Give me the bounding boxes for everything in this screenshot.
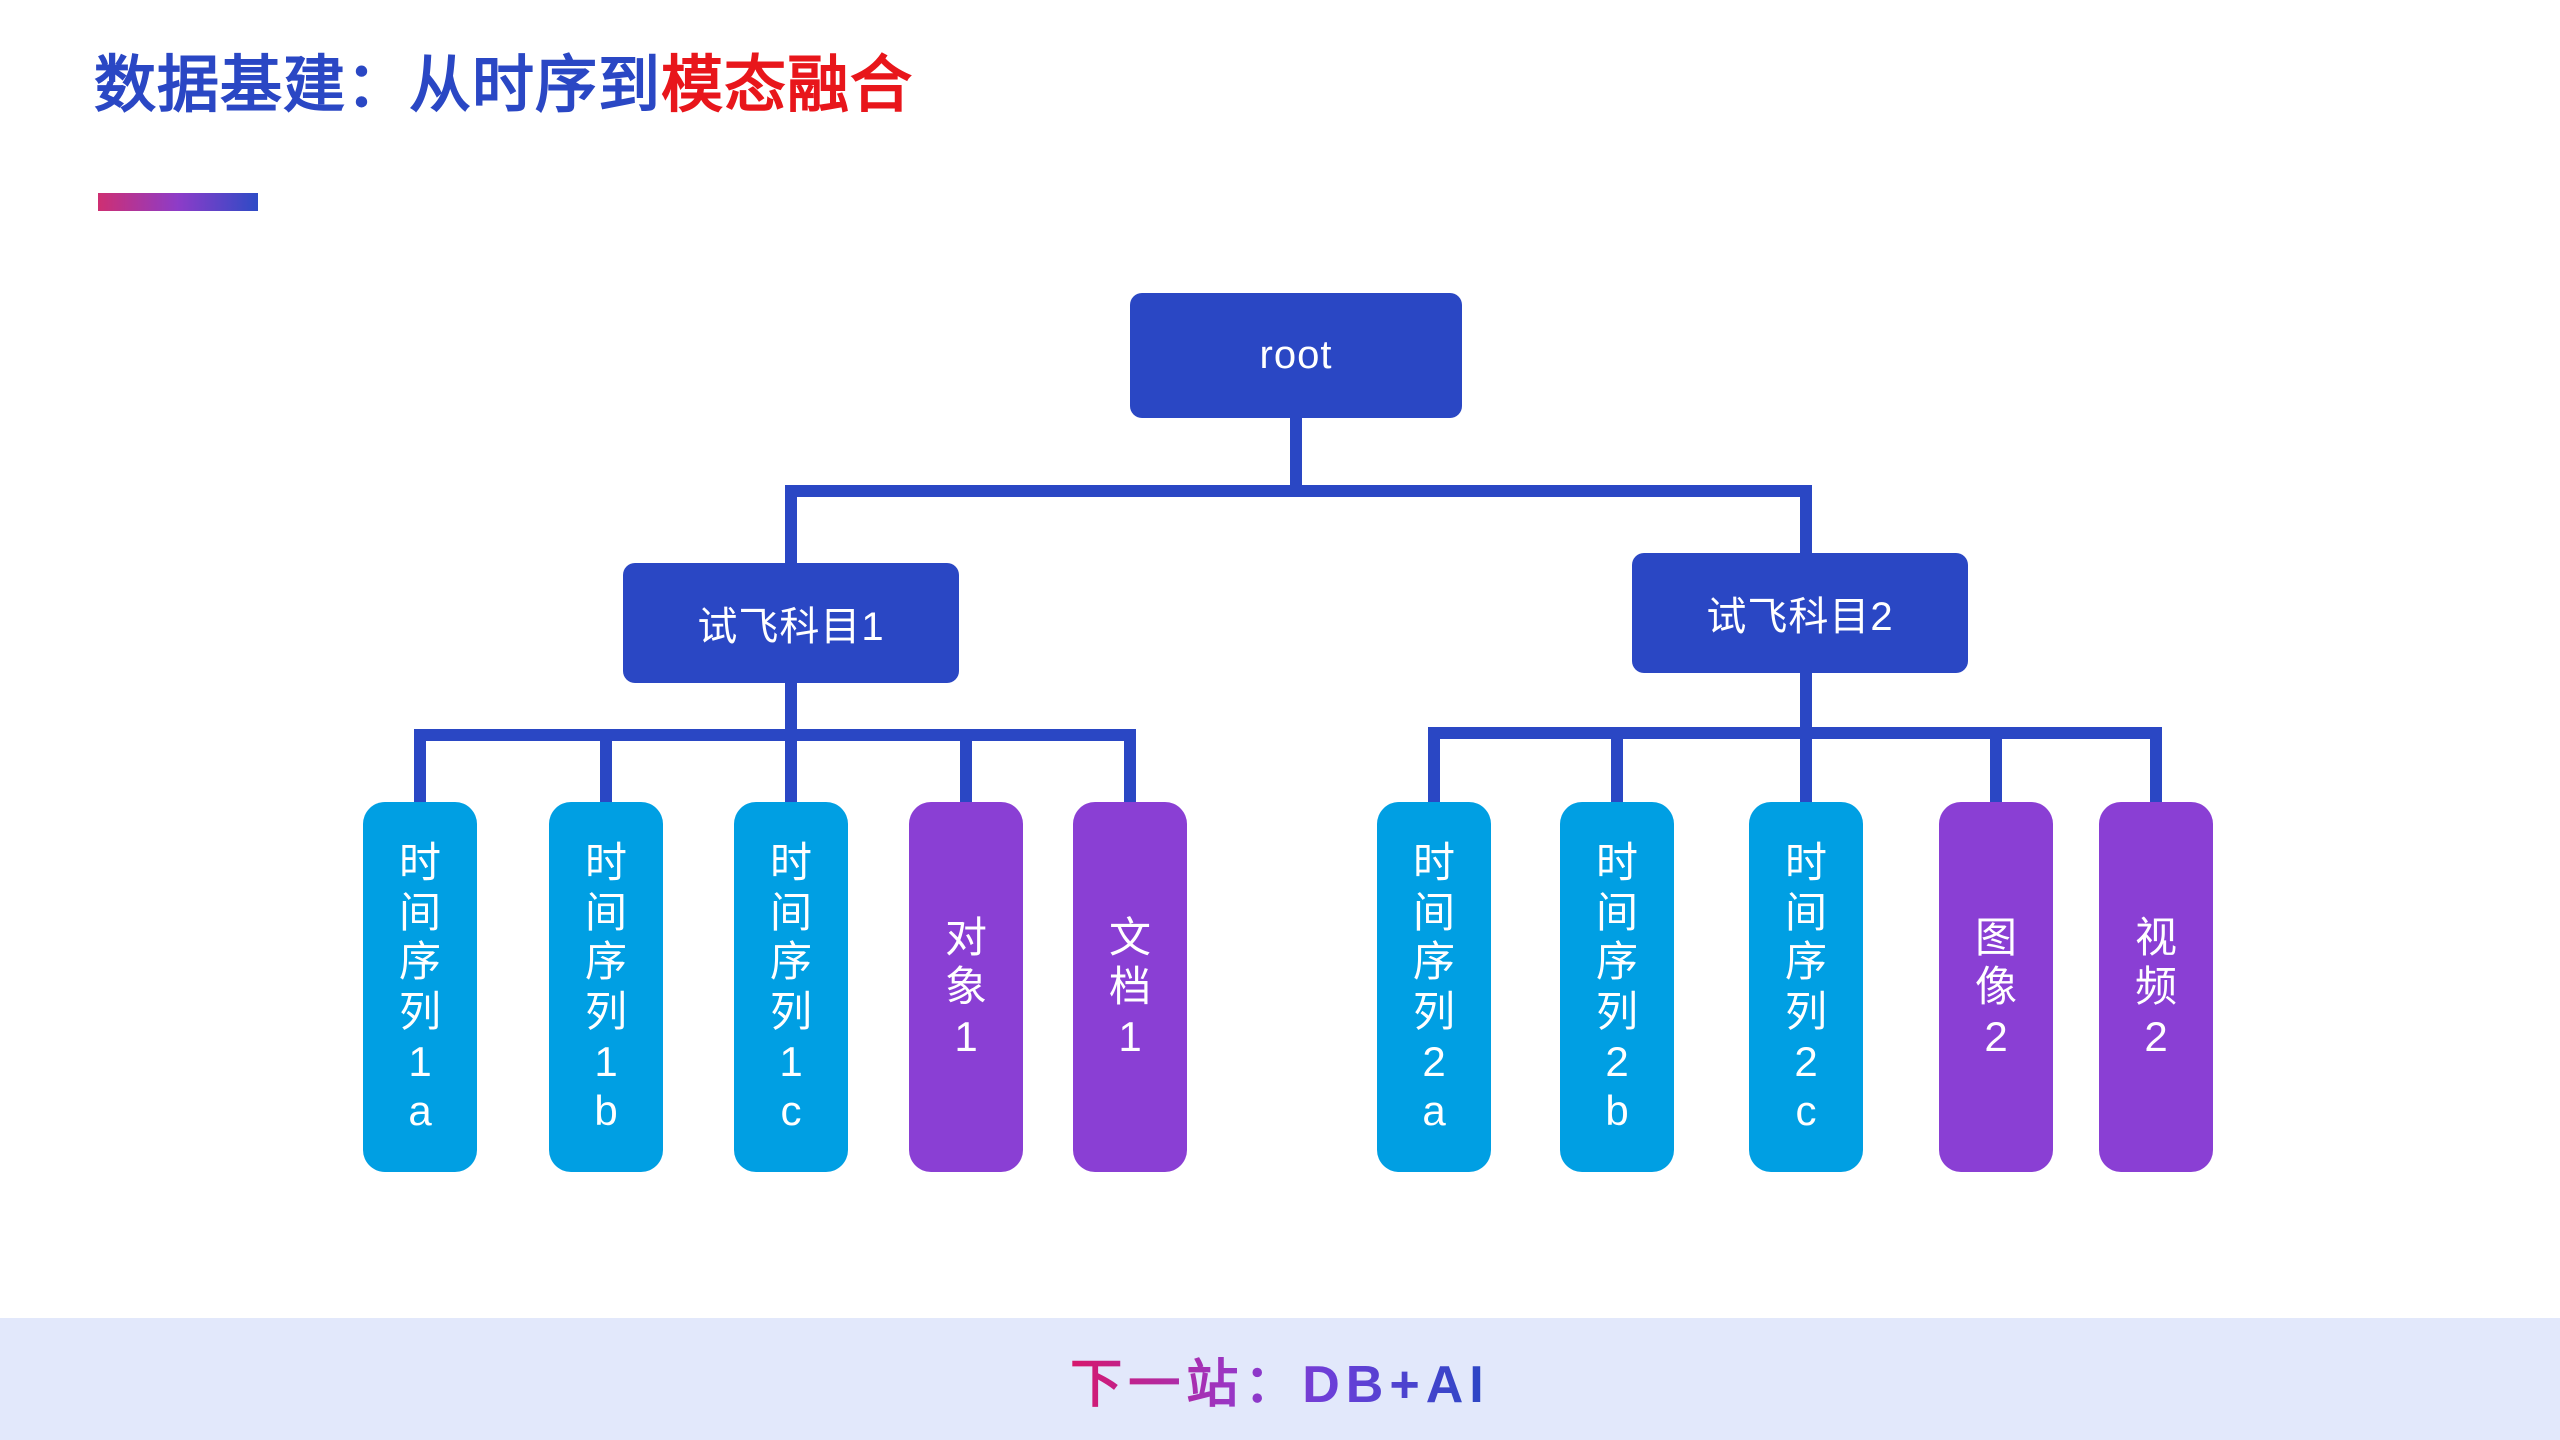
edge-branch-2-drop-3 bbox=[1800, 727, 1812, 805]
edge-branch-2-drop-2 bbox=[1611, 727, 1623, 805]
tree-leaf-label: 时间序列1c bbox=[769, 838, 813, 1135]
tree-node-branch-2-label: 试飞科目2 bbox=[1706, 584, 1893, 642]
edge-branch-1-drop-1 bbox=[414, 729, 426, 805]
tree-leaf-video-2[interactable]: 视频2 bbox=[2099, 802, 2213, 1172]
edge-branch-1-drop-4 bbox=[960, 729, 972, 805]
edge-root-bus bbox=[785, 485, 1812, 497]
tree-diagram: root 试飞科目1 试飞科目2 时间序列1a 时间序列1b 时间序列1c 对象… bbox=[0, 0, 2560, 1320]
tree-leaf-timeseries-2c[interactable]: 时间序列2c bbox=[1749, 802, 1863, 1172]
tree-leaf-label: 对象1 bbox=[944, 913, 988, 1062]
tree-node-branch-2[interactable]: 试飞科目2 bbox=[1632, 553, 1968, 673]
edge-branch-2-drop-5 bbox=[2150, 727, 2162, 805]
tree-leaf-label: 时间序列2a bbox=[1412, 838, 1456, 1135]
tree-leaf-label: 时间序列1a bbox=[398, 838, 442, 1135]
tree-leaf-timeseries-1a[interactable]: 时间序列1a bbox=[363, 802, 477, 1172]
tree-leaf-label: 图像2 bbox=[1974, 913, 2018, 1062]
edge-branch-1-drop-3 bbox=[785, 729, 797, 805]
edge-branch-2-drop-4 bbox=[1990, 727, 2002, 805]
tree-leaf-label: 视频2 bbox=[2134, 913, 2178, 1062]
tree-node-root-label: root bbox=[1260, 333, 1333, 378]
tree-leaf-timeseries-1c[interactable]: 时间序列1c bbox=[734, 802, 848, 1172]
edge-root-stem bbox=[1290, 418, 1302, 491]
edge-branch-1-drop-5 bbox=[1124, 729, 1136, 805]
tree-leaf-document-1[interactable]: 文档1 bbox=[1073, 802, 1187, 1172]
footer-band: 下一站：DB+AI bbox=[0, 1318, 2560, 1440]
tree-leaf-object-1[interactable]: 对象1 bbox=[909, 802, 1023, 1172]
tree-node-root[interactable]: root bbox=[1130, 293, 1462, 418]
edge-branch-2-bus bbox=[1428, 727, 2162, 739]
edge-branch-1-drop-2 bbox=[600, 729, 612, 805]
footer-tagline: 下一站：DB+AI bbox=[1070, 1342, 1489, 1417]
edge-root-to-branch-1 bbox=[785, 485, 797, 565]
tree-leaf-timeseries-2b[interactable]: 时间序列2b bbox=[1560, 802, 1674, 1172]
edge-root-to-branch-2 bbox=[1800, 485, 1812, 558]
tree-node-branch-1[interactable]: 试飞科目1 bbox=[623, 563, 959, 683]
edge-branch-2-stem bbox=[1800, 673, 1812, 731]
tree-node-branch-1-label: 试飞科目1 bbox=[697, 594, 884, 652]
tree-leaf-label: 时间序列2b bbox=[1595, 838, 1639, 1135]
edge-branch-2-drop-1 bbox=[1428, 727, 1440, 805]
tree-leaf-label: 时间序列2c bbox=[1784, 838, 1828, 1135]
edge-branch-1-bus bbox=[414, 729, 1136, 741]
tree-leaf-timeseries-2a[interactable]: 时间序列2a bbox=[1377, 802, 1491, 1172]
tree-leaf-timeseries-1b[interactable]: 时间序列1b bbox=[549, 802, 663, 1172]
tree-leaf-label: 文档1 bbox=[1108, 913, 1152, 1062]
tree-leaf-image-2[interactable]: 图像2 bbox=[1939, 802, 2053, 1172]
tree-leaf-label: 时间序列1b bbox=[584, 838, 628, 1135]
